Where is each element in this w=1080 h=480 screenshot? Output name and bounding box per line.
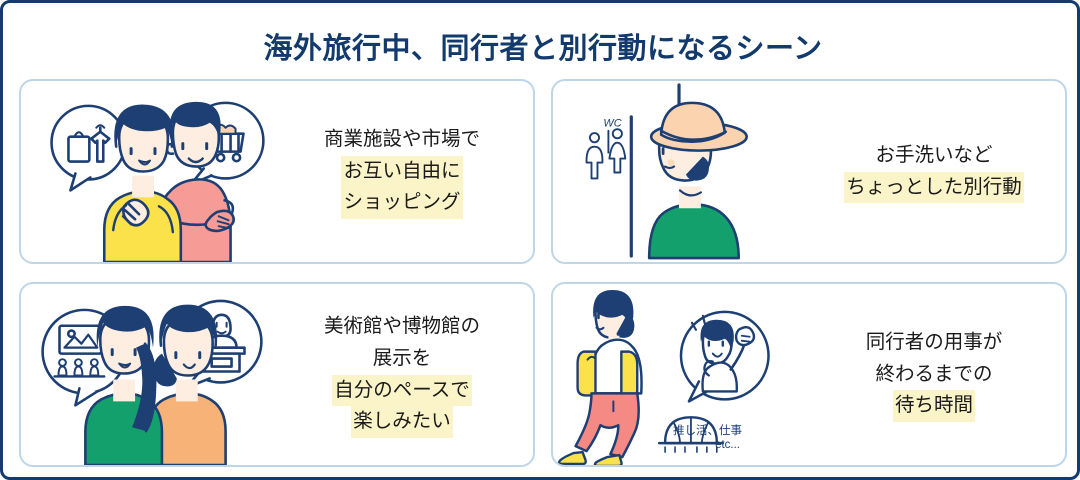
card-waiting-text: 同行者の用事が 終わるまでの 待ち時間 [811,327,1065,422]
card-restroom: WC [551,79,1067,264]
card-line: 商業施設や市場で [279,124,525,156]
two-women-museum-svg [21,284,279,465]
card-shopping: 商業施設や市場で お互い自由に ショッピング [19,79,535,264]
infographic-page: 海外旅行中、同行者と別行動になるシーン [0,0,1080,480]
card-museum: 美術館や博物館の 展示を 自分のペースで 楽しみたい [19,282,535,467]
card-line-highlight: 待ち時間 [811,390,1057,422]
woman-at-restroom-sign-illustration: WC [553,81,811,262]
card-line: お手洗いなど [811,140,1057,172]
card-museum-text: 美術館や博物館の 展示を 自分のペースで 楽しみたい [279,311,533,438]
woman-restroom-svg: WC [553,81,811,262]
card-line-highlight: ショッピング [279,187,525,219]
card-shopping-text: 商業施設や市場で お互い自由に ショッピング [279,124,533,219]
card-waiting: 推し活、仕事 etc... 同行者の用事が 終わるまでの 待ち時間 [551,282,1067,467]
card-line-highlight: ちょっとした別行動 [811,172,1057,204]
couple-shopping-illustration [21,81,279,262]
card-line: 同行者の用事が [811,327,1057,359]
two-women-museum-illustration [21,284,279,465]
card-restroom-text: お手洗いなど ちょっとした別行動 [811,140,1065,203]
woman-walking-fan-activity-illustration: 推し活、仕事 etc... [553,284,811,465]
card-grid: 商業施設や市場で お互い自由に ショッピング WC [19,79,1067,467]
caption-line-2: etc... [673,438,742,452]
card-line: 美術館や博物館の [279,311,525,343]
card-line-highlight: 楽しみたい [279,406,525,438]
caption-line-1: 推し活、仕事 [673,424,742,438]
card-line-highlight: お互い自由に [279,156,525,188]
page-title: 海外旅行中、同行者と別行動になるシーン [3,25,1080,67]
wc-sign-label: WC [603,118,621,130]
card-line: 終わるまでの [811,359,1057,391]
card-line-highlight: 自分のペースで [279,375,525,407]
card-waiting-art-caption: 推し活、仕事 etc... [673,424,742,453]
card-line: 展示を [279,343,525,375]
couple-shopping-svg [21,81,279,262]
